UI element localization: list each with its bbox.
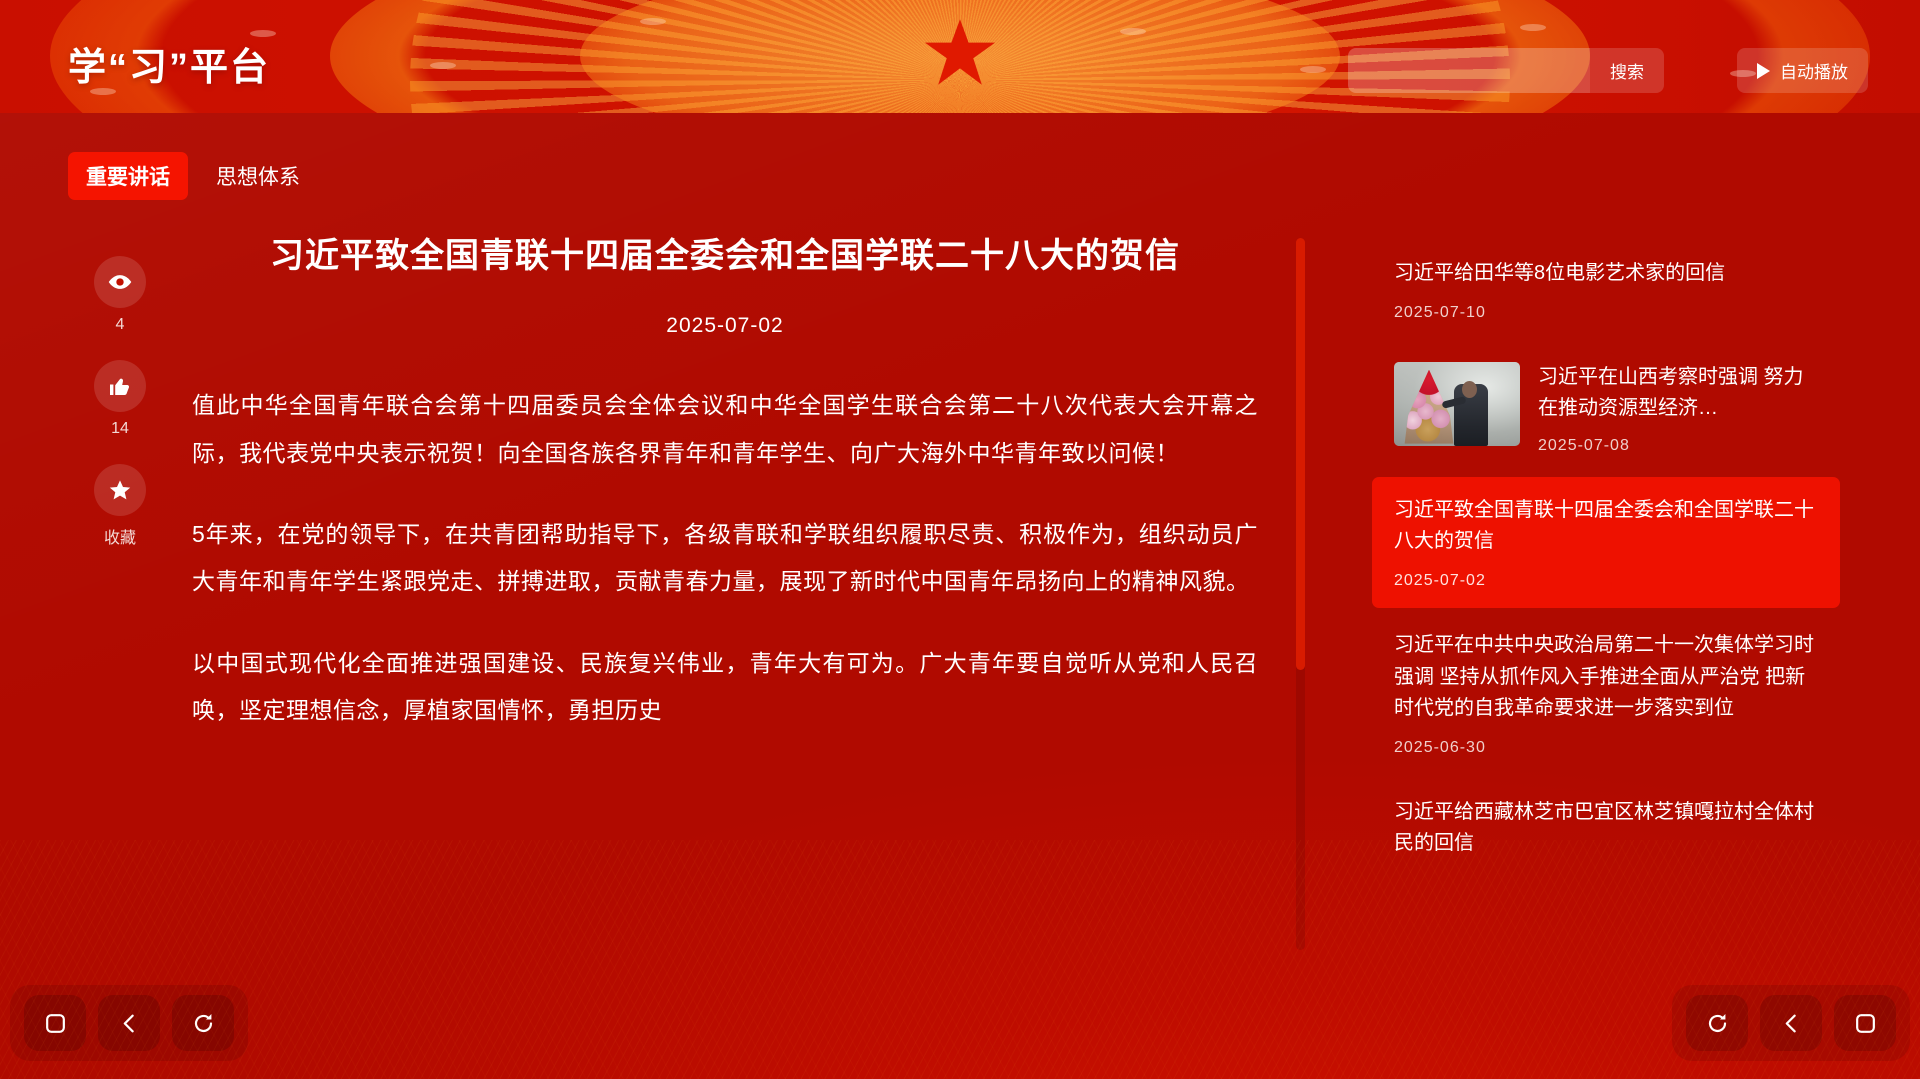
search-input[interactable] bbox=[1348, 48, 1590, 93]
article-paragraph: 5年来，在党的领导下，在共青团帮助指导下，各级青联和学联组织履职尽责、积极作为，… bbox=[192, 511, 1258, 606]
autoplay-button[interactable]: 自动播放 bbox=[1737, 48, 1868, 93]
article-paragraph: 以中国式现代化全面推进强国建设、民族复兴伟业，青年大有可为。广大青年要自觉听从党… bbox=[192, 640, 1258, 735]
back-chevron-icon[interactable] bbox=[98, 995, 160, 1051]
news-list-item-active[interactable]: 习近平致全国青联十四届全委会和全国学联二十八大的贺信 2025-07-02 bbox=[1372, 477, 1840, 608]
search-button[interactable]: 搜索 bbox=[1590, 48, 1664, 93]
news-item-title: 习近平给田华等8位电影艺术家的回信 bbox=[1394, 258, 1818, 290]
news-list-item[interactable]: 习近平在中共中央政治局第二十一次集体学习时强调 坚持从抓作风入手推进全面从严治党… bbox=[1372, 612, 1840, 775]
red-star-icon bbox=[921, 13, 999, 91]
article-body: 值此中华全国青年联合会第十四届委员会全体会议和中华全国学生联合会第二十八次代表大… bbox=[190, 382, 1260, 734]
article-title: 习近平致全国青联十四届全委会和全国学联二十八大的贺信 bbox=[190, 232, 1260, 280]
play-triangle-icon bbox=[1757, 63, 1770, 79]
news-item-thumbnail bbox=[1394, 362, 1520, 446]
news-list-item[interactable]: 习近平给西藏林芝市巴宜区林芝镇嘎拉村全体村民的回信 bbox=[1372, 779, 1840, 878]
news-item-date: 2025-07-02 bbox=[1394, 572, 1818, 590]
category-tabs: 重要讲话 思想体系 bbox=[68, 152, 318, 200]
thumbs-up-icon bbox=[94, 360, 146, 412]
article-scrollbar[interactable] bbox=[1296, 238, 1305, 950]
tab-important-speeches[interactable]: 重要讲话 bbox=[68, 152, 188, 200]
search-bar: 搜索 bbox=[1348, 48, 1664, 93]
banner-speck bbox=[430, 62, 456, 69]
banner-speck bbox=[640, 18, 666, 25]
article-date: 2025-07-02 bbox=[190, 314, 1260, 338]
news-list-item[interactable]: 习近平在山西考察时强调 努力在推动资源型经济… 2025-07-08 bbox=[1372, 344, 1840, 473]
news-item-title: 习近平致全国青联十四届全委会和全国学联二十八大的贺信 bbox=[1394, 495, 1818, 558]
article-paragraph: 值此中华全国青年联合会第十四届委员会全体会议和中华全国学生联合会第二十八次代表大… bbox=[192, 382, 1258, 477]
banner-speck bbox=[1520, 24, 1546, 31]
square-recents-icon[interactable] bbox=[1834, 995, 1896, 1051]
navbar-right bbox=[1672, 985, 1910, 1061]
news-item-date: 2025-07-10 bbox=[1394, 304, 1818, 322]
banner-speck bbox=[1300, 66, 1326, 73]
favorite-label: 收藏 bbox=[104, 524, 136, 548]
views-action[interactable]: 4 bbox=[94, 256, 146, 334]
article-pane: 习近平致全国青联十四届全委会和全国学联二十八大的贺信 2025-07-02 值此… bbox=[190, 232, 1260, 950]
news-item-date: 2025-06-30 bbox=[1394, 739, 1818, 757]
refresh-icon[interactable] bbox=[172, 995, 234, 1051]
refresh-icon[interactable] bbox=[1686, 995, 1748, 1051]
likes-count: 14 bbox=[111, 420, 129, 438]
header-banner: 学“习”平台 搜索 自动播放 bbox=[0, 0, 1920, 113]
views-count: 4 bbox=[116, 316, 125, 334]
thumbnail-person-head bbox=[1462, 381, 1477, 398]
banner-speck bbox=[1120, 28, 1146, 35]
news-item-date: 2025-07-08 bbox=[1538, 437, 1818, 455]
article-scrollbar-thumb[interactable] bbox=[1296, 238, 1305, 670]
news-item-title: 习近平在中共中央政治局第二十一次集体学习时强调 坚持从抓作风入手推进全面从严治党… bbox=[1394, 630, 1818, 725]
square-recents-icon[interactable] bbox=[24, 995, 86, 1051]
app-brand-title: 学“习”平台 bbox=[68, 36, 270, 91]
favorite-action[interactable]: 收藏 bbox=[94, 464, 146, 548]
back-chevron-icon[interactable] bbox=[1760, 995, 1822, 1051]
news-item-title: 习近平在山西考察时强调 努力在推动资源型经济… bbox=[1538, 362, 1818, 425]
star-icon bbox=[94, 464, 146, 516]
tab-thought-system[interactable]: 思想体系 bbox=[198, 152, 318, 200]
likes-action[interactable]: 14 bbox=[94, 360, 146, 438]
related-news-list[interactable]: 习近平给田华等8位电影艺术家的回信 2025-07-10 习近平在山西考察时强调… bbox=[1372, 240, 1840, 955]
news-item-title: 习近平给西藏林芝市巴宜区林芝镇嘎拉村全体村民的回信 bbox=[1394, 797, 1818, 860]
app-root: 学“习”平台 搜索 自动播放 重要讲话 思想体系 4 bbox=[0, 0, 1920, 1079]
autoplay-label: 自动播放 bbox=[1780, 58, 1848, 83]
article-action-rail: 4 14 收藏 bbox=[70, 256, 170, 548]
navbar-left bbox=[10, 985, 248, 1061]
news-list-item[interactable]: 习近平给田华等8位电影艺术家的回信 2025-07-10 bbox=[1372, 240, 1840, 340]
eye-icon bbox=[94, 256, 146, 308]
